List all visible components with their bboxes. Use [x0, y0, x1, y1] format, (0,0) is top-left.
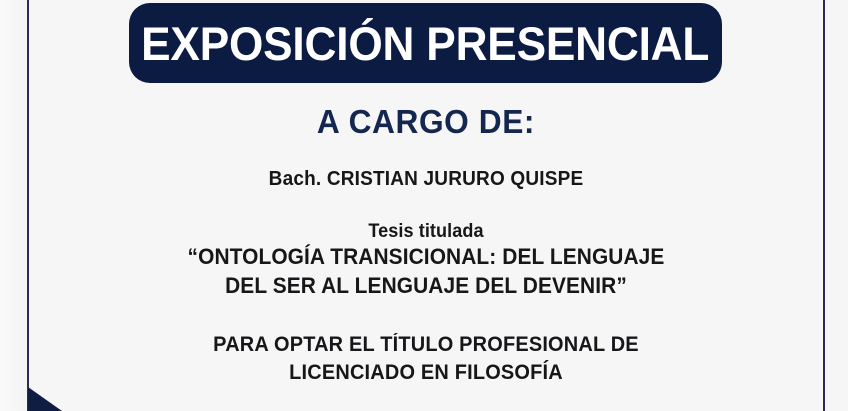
- degree-line-2: LICENCIADO EN FILOSOFÍA: [49, 359, 803, 387]
- poster-content: A CARGO DE: Bach. CRISTIAN JURURO QUISPE…: [29, 83, 823, 387]
- thesis-block: Tesis titulada “ONTOLOGÍA TRANSICIONAL: …: [49, 220, 803, 301]
- degree-block: PARA OPTAR EL TÍTULO PROFESIONAL DE LICE…: [49, 331, 803, 388]
- right-frame-rule: [823, 0, 825, 411]
- presenter-name: Bach. CRISTIAN JURURO QUISPE: [49, 168, 803, 190]
- degree-line-1: PARA OPTAR EL TÍTULO PROFESIONAL DE: [49, 331, 803, 359]
- thesis-title-line-2: DEL SER AL LENGUAJE DEL DEVENIR”: [49, 272, 803, 301]
- bottom-left-corner-wedge: [28, 387, 62, 411]
- thesis-title-line-1: “ONTOLOGÍA TRANSICIONAL: DEL LENGUAJE: [49, 243, 803, 272]
- thesis-lead-label: Tesis titulada: [49, 220, 803, 244]
- headline-banner: EXPOSICIÓN PRESENCIAL: [129, 3, 722, 83]
- poster-canvas: EXPOSICIÓN PRESENCIAL A CARGO DE: Bach. …: [0, 0, 848, 411]
- banner-title: EXPOSICIÓN PRESENCIAL: [141, 20, 709, 67]
- subheading-a-cargo-de: A CARGO DE:: [45, 105, 807, 140]
